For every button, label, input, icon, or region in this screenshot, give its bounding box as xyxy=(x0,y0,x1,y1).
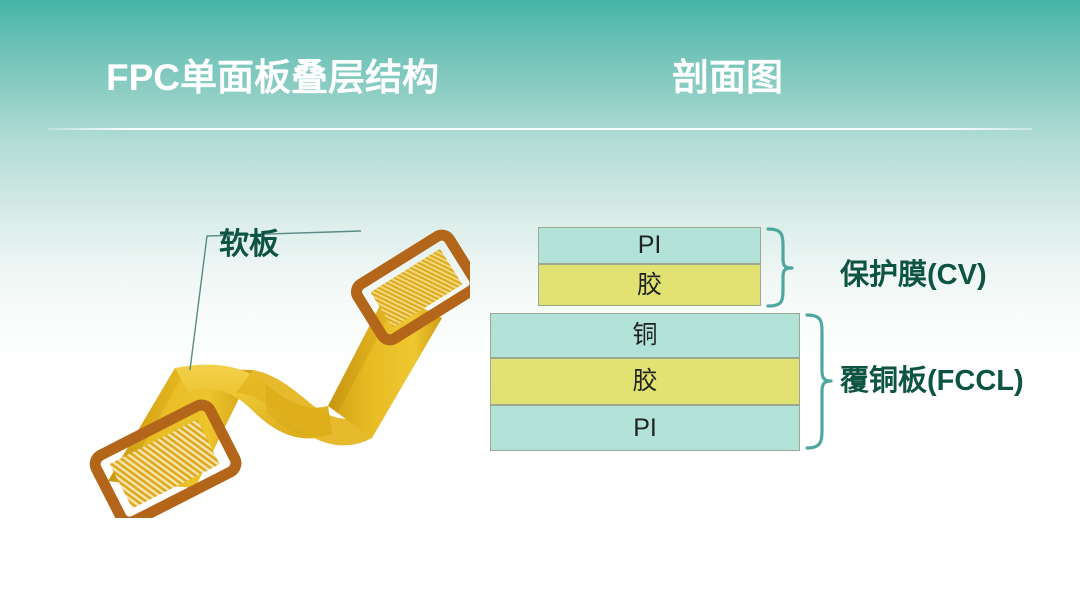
page-title: FPC单面板叠层结构 xyxy=(106,52,439,104)
brace-fccl-icon xyxy=(807,315,831,448)
header: FPC单面板叠层结构 剖面图 xyxy=(0,52,1080,108)
header-divider xyxy=(48,128,1032,130)
layer-stack-diagram: PI 胶 铜 胶 PI 保护膜(CV) 覆铜板(FCCL) xyxy=(480,205,1040,475)
stack-braces xyxy=(480,205,1040,475)
slide-canvas: FPC单面板叠层结构 剖面图 xyxy=(0,0,1080,605)
stack-caption-fccl: 覆铜板(FCCL) xyxy=(840,365,1024,397)
soft-board-label: 软板 xyxy=(219,228,279,262)
stack-caption-cover-film: 保护膜(CV) xyxy=(840,259,987,291)
connector-top-right xyxy=(353,232,470,344)
page-subtitle: 剖面图 xyxy=(672,52,783,104)
connector-bottom-left xyxy=(92,402,240,518)
brace-cv-icon xyxy=(768,229,792,306)
